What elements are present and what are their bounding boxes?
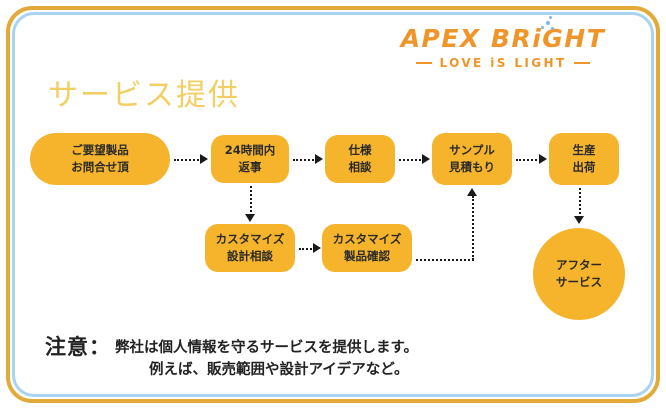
- arrowhead-custom-confirm-to-sample-icon: [467, 188, 477, 196]
- note-line-2: 例えば、販売範囲や設計アイデアなど。: [115, 359, 418, 381]
- flow-node-after-service-line2: サービス: [556, 274, 602, 291]
- flow-node-after-service[interactable]: アフター サービス: [533, 228, 625, 320]
- flow-node-request-product-line1: ご要望製品: [71, 142, 129, 159]
- note-line-1: 弊社は個人情報を守るサービスを提供します。: [115, 337, 418, 359]
- connector-reply-to-custom-design: [250, 186, 252, 216]
- arrowhead-produce-to-after-service-icon: [574, 216, 584, 224]
- flow-node-spec-consult[interactable]: 仕様 相談: [325, 135, 395, 183]
- slide-canvas: APEX BRiGHT LOVE iS LIGHT サービス提供 ご要望製品 お…: [0, 0, 666, 409]
- brand-name-text: APEX BRiGHT: [401, 26, 606, 52]
- brand-name-label: APEX BRiGHT: [401, 24, 606, 53]
- flow-node-custom-confirm[interactable]: カスタマイズ 製品確認: [322, 224, 412, 272]
- flow-node-sample-quote-line1: サンプル: [449, 142, 495, 159]
- note-body: 弊社は個人情報を守るサービスを提供します。 例えば、販売範囲や設計アイデアなど。: [115, 334, 418, 382]
- connector-sample-to-produce: [516, 159, 541, 161]
- flow-node-sample-quote-line2: 見積もり: [449, 159, 495, 176]
- connector-request-to-reply: [174, 159, 202, 161]
- tagline-rule-right-icon: [574, 62, 590, 64]
- connector-custom-confirm-to-sample-horizontal: [416, 259, 474, 261]
- brand-logo: APEX BRiGHT LOVE iS LIGHT: [388, 26, 618, 70]
- page-title: サービス提供: [48, 70, 240, 114]
- arrowhead-custom-design-to-confirm-icon: [313, 243, 321, 253]
- flow-node-request-product-line2: お問合せ頂: [71, 159, 129, 176]
- flow-node-produce-ship-line1: 生産: [573, 142, 596, 159]
- note-block: 注意： 弊社は個人情報を守るサービスを提供します。 例えば、販売範囲や設計アイデ…: [45, 334, 418, 382]
- note-label: 注意：: [45, 334, 111, 360]
- flow-node-produce-ship[interactable]: 生産 出荷: [549, 133, 619, 185]
- flow-node-spec-consult-line2: 相談: [349, 159, 372, 176]
- flow-node-custom-design[interactable]: カスタマイズ 設計相談: [205, 224, 295, 272]
- flow-node-reply-24h[interactable]: 24時間内 返事: [211, 135, 289, 183]
- flow-node-reply-24h-line2: 返事: [239, 159, 262, 176]
- flow-node-produce-ship-line2: 出荷: [573, 159, 596, 176]
- connector-reply-to-spec: [293, 159, 317, 161]
- flow-node-request-product[interactable]: ご要望製品 お問合せ頂: [30, 133, 170, 185]
- arrowhead-request-to-reply-icon: [200, 154, 208, 164]
- brand-tagline-label: LOVE iS LIGHT: [439, 56, 566, 70]
- flow-node-reply-24h-line1: 24時間内: [225, 142, 276, 159]
- tagline-rule-left-icon: [416, 62, 432, 64]
- connector-produce-to-after-service: [579, 188, 581, 218]
- arrowhead-sample-to-produce-icon: [539, 154, 547, 164]
- arrowhead-reply-to-spec-icon: [315, 154, 323, 164]
- flow-node-custom-confirm-line2: 製品確認: [344, 248, 390, 265]
- arrowhead-reply-to-custom-design-icon: [245, 214, 255, 222]
- connector-custom-confirm-to-sample-vertical: [472, 196, 474, 260]
- sparkle-dots-icon: [539, 19, 557, 33]
- arrowhead-spec-to-sample-icon: [422, 154, 430, 164]
- flow-node-after-service-line1: アフター: [556, 257, 602, 274]
- flow-node-custom-confirm-line1: カスタマイズ: [333, 231, 402, 248]
- flow-node-custom-design-line2: 設計相談: [227, 248, 273, 265]
- brand-tagline: LOVE iS LIGHT: [388, 56, 618, 70]
- flow-node-spec-consult-line1: 仕様: [349, 142, 372, 159]
- flow-node-custom-design-line1: カスタマイズ: [216, 231, 285, 248]
- flow-node-sample-quote[interactable]: サンプル 見積もり: [432, 133, 512, 185]
